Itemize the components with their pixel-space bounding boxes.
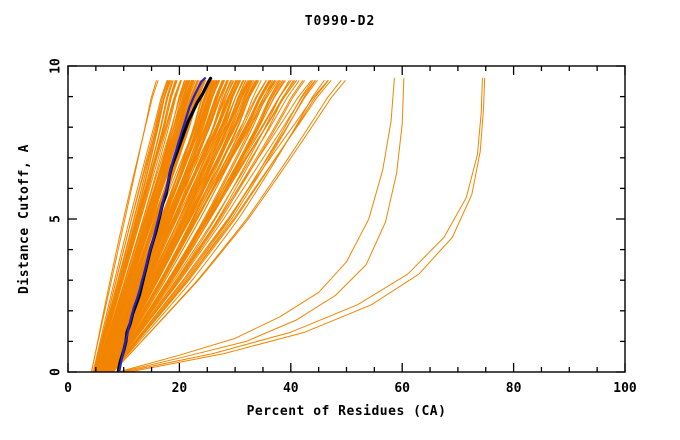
x-tick-label: 60 — [394, 381, 410, 396]
y-tick-label: 10 — [49, 58, 64, 74]
x-tick-label: 0 — [64, 381, 72, 396]
series-layer — [91, 78, 484, 372]
x-axis-title: Percent of Residues (CA) — [247, 404, 447, 419]
x-tick-label: 80 — [506, 381, 522, 396]
x-tick-label: 20 — [172, 381, 188, 396]
y-axis-title: Distance Cutoff, A — [17, 144, 32, 294]
figure-root: T0990-D2 0204060801000510Percent of Resi… — [0, 0, 680, 440]
y-tick-label: 5 — [49, 215, 64, 223]
plot-canvas: 0204060801000510Percent of Residues (CA)… — [0, 0, 680, 440]
x-tick-label: 100 — [613, 381, 637, 396]
x-tick-label: 40 — [283, 381, 299, 396]
y-tick-label: 0 — [49, 368, 64, 376]
figure-svg: 0204060801000510Percent of Residues (CA)… — [0, 0, 680, 440]
